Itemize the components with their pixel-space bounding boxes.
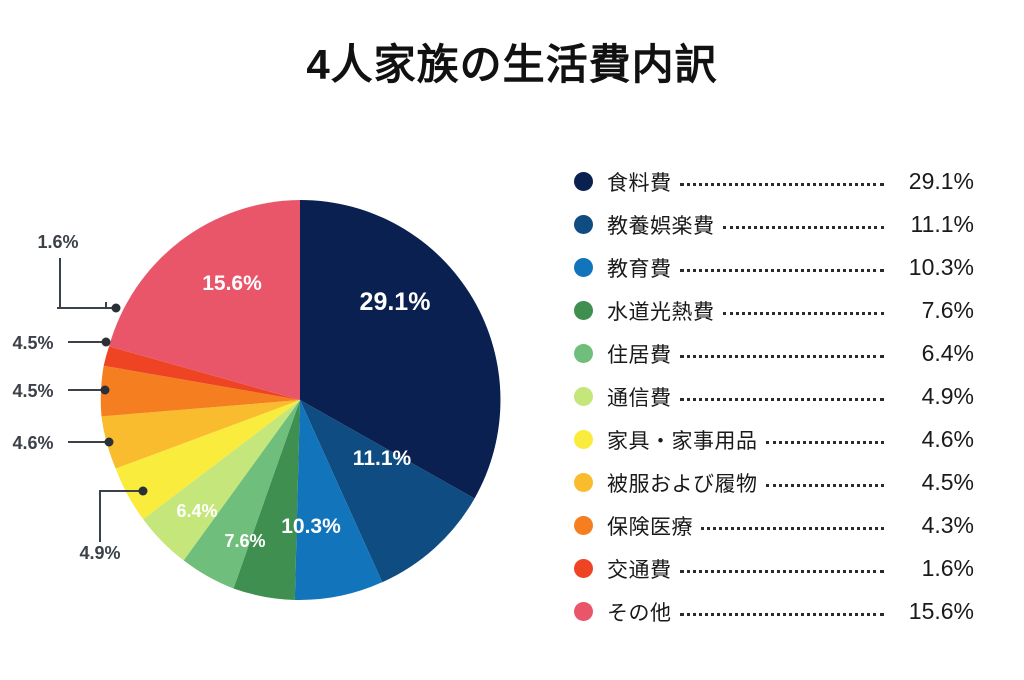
legend-value: 29.1% bbox=[892, 168, 974, 195]
legend-label: 交通費 bbox=[607, 554, 672, 584]
legend-label: 水道光熱費 bbox=[607, 296, 715, 326]
legend-swatch-icon bbox=[574, 172, 593, 191]
legend-swatch-icon bbox=[574, 301, 593, 320]
legend-item-transport[interactable]: 交通費 1.6% bbox=[574, 547, 974, 590]
legend-item-education[interactable]: 教育費 10.3% bbox=[574, 246, 974, 289]
pie-label-other: 15.6% bbox=[202, 272, 262, 295]
callout-dot-transport bbox=[112, 304, 121, 313]
pie-callout-furniture: 4.6% bbox=[12, 433, 53, 453]
legend-item-utilities[interactable]: 水道光熱費 7.6% bbox=[574, 289, 974, 332]
legend-item-clothing[interactable]: 被服および履物 4.5% bbox=[574, 461, 974, 504]
legend-dot-leader bbox=[723, 301, 885, 321]
callout-dot-communication bbox=[139, 487, 148, 496]
legend-swatch-icon bbox=[574, 258, 593, 277]
legend-swatch-icon bbox=[574, 344, 593, 363]
legend-swatch-icon bbox=[574, 516, 593, 535]
legend-swatch-icon bbox=[574, 602, 593, 621]
legend-item-housing[interactable]: 住居費 6.4% bbox=[574, 332, 974, 375]
callout-dot-clothing bbox=[101, 386, 110, 395]
legend-label: 住居費 bbox=[607, 339, 672, 369]
legend-item-food[interactable]: 食料費 29.1% bbox=[574, 160, 974, 203]
pie-label-housing: 6.4% bbox=[176, 501, 217, 521]
legend-item-furniture[interactable]: 家具・家事用品 4.6% bbox=[574, 418, 974, 461]
pie-chart-svg: 29.1% 11.1% 10.3% 7.6% 6.4% 15.6% 1.6% 4… bbox=[0, 150, 560, 620]
legend-swatch-icon bbox=[574, 387, 593, 406]
legend-label: その他 bbox=[607, 597, 672, 627]
legend: 食料費 29.1% 教養娯楽費 11.1% 教育費 10.3% 水道光熱費 7.… bbox=[574, 160, 974, 633]
legend-label: 食料費 bbox=[607, 167, 672, 197]
legend-dot-leader bbox=[680, 258, 885, 278]
legend-label: 通信費 bbox=[607, 382, 672, 412]
legend-swatch-icon bbox=[574, 215, 593, 234]
legend-dot-leader bbox=[680, 344, 885, 364]
legend-dot-leader bbox=[680, 387, 885, 407]
legend-value: 11.1% bbox=[892, 211, 974, 238]
legend-label: 教養娯楽費 bbox=[607, 210, 715, 240]
legend-dot-leader bbox=[701, 516, 884, 536]
legend-label: 家具・家事用品 bbox=[607, 425, 758, 455]
legend-value: 4.9% bbox=[892, 383, 974, 410]
pie-label-utilities: 7.6% bbox=[224, 531, 265, 551]
page-title: 4人家族の生活費内訳 bbox=[0, 42, 1024, 88]
legend-swatch-icon bbox=[574, 430, 593, 449]
pie-callout-medical: 4.5% bbox=[12, 333, 53, 353]
pie-callout-transport: 1.6% bbox=[37, 232, 78, 252]
legend-value: 4.5% bbox=[892, 469, 974, 496]
legend-item-medical[interactable]: 保険医療 4.3% bbox=[574, 504, 974, 547]
pie-chart: 29.1% 11.1% 10.3% 7.6% 6.4% 15.6% 1.6% 4… bbox=[0, 150, 560, 620]
legend-label: 教育費 bbox=[607, 253, 672, 283]
pie-callout-communication: 4.9% bbox=[79, 543, 120, 563]
callout-dot-medical bbox=[102, 338, 111, 347]
legend-item-communication[interactable]: 通信費 4.9% bbox=[574, 375, 974, 418]
legend-value: 6.4% bbox=[892, 340, 974, 367]
legend-dot-leader bbox=[680, 602, 885, 622]
legend-swatch-icon bbox=[574, 559, 593, 578]
legend-dot-leader bbox=[723, 215, 885, 235]
legend-dot-leader bbox=[766, 473, 885, 493]
legend-label: 保険医療 bbox=[607, 511, 693, 541]
callout-dot-furniture bbox=[105, 438, 114, 447]
legend-value: 15.6% bbox=[892, 598, 974, 625]
pie-callout-clothing: 4.5% bbox=[12, 381, 53, 401]
legend-value: 4.3% bbox=[892, 512, 974, 539]
legend-value: 1.6% bbox=[892, 555, 974, 582]
legend-dot-leader bbox=[766, 430, 885, 450]
pie-label-food: 29.1% bbox=[360, 288, 431, 316]
legend-swatch-icon bbox=[574, 473, 593, 492]
pie-label-education: 10.3% bbox=[281, 515, 341, 538]
legend-dot-leader bbox=[680, 172, 885, 192]
legend-dot-leader bbox=[680, 559, 885, 579]
legend-value: 4.6% bbox=[892, 426, 974, 453]
legend-item-other[interactable]: その他 15.6% bbox=[574, 590, 974, 633]
legend-label: 被服および履物 bbox=[607, 468, 758, 498]
legend-value: 7.6% bbox=[892, 297, 974, 324]
pie-label-culture: 11.1% bbox=[353, 447, 412, 470]
legend-value: 10.3% bbox=[892, 254, 974, 281]
legend-item-culture[interactable]: 教養娯楽費 11.1% bbox=[574, 203, 974, 246]
pie-slices bbox=[101, 200, 501, 600]
